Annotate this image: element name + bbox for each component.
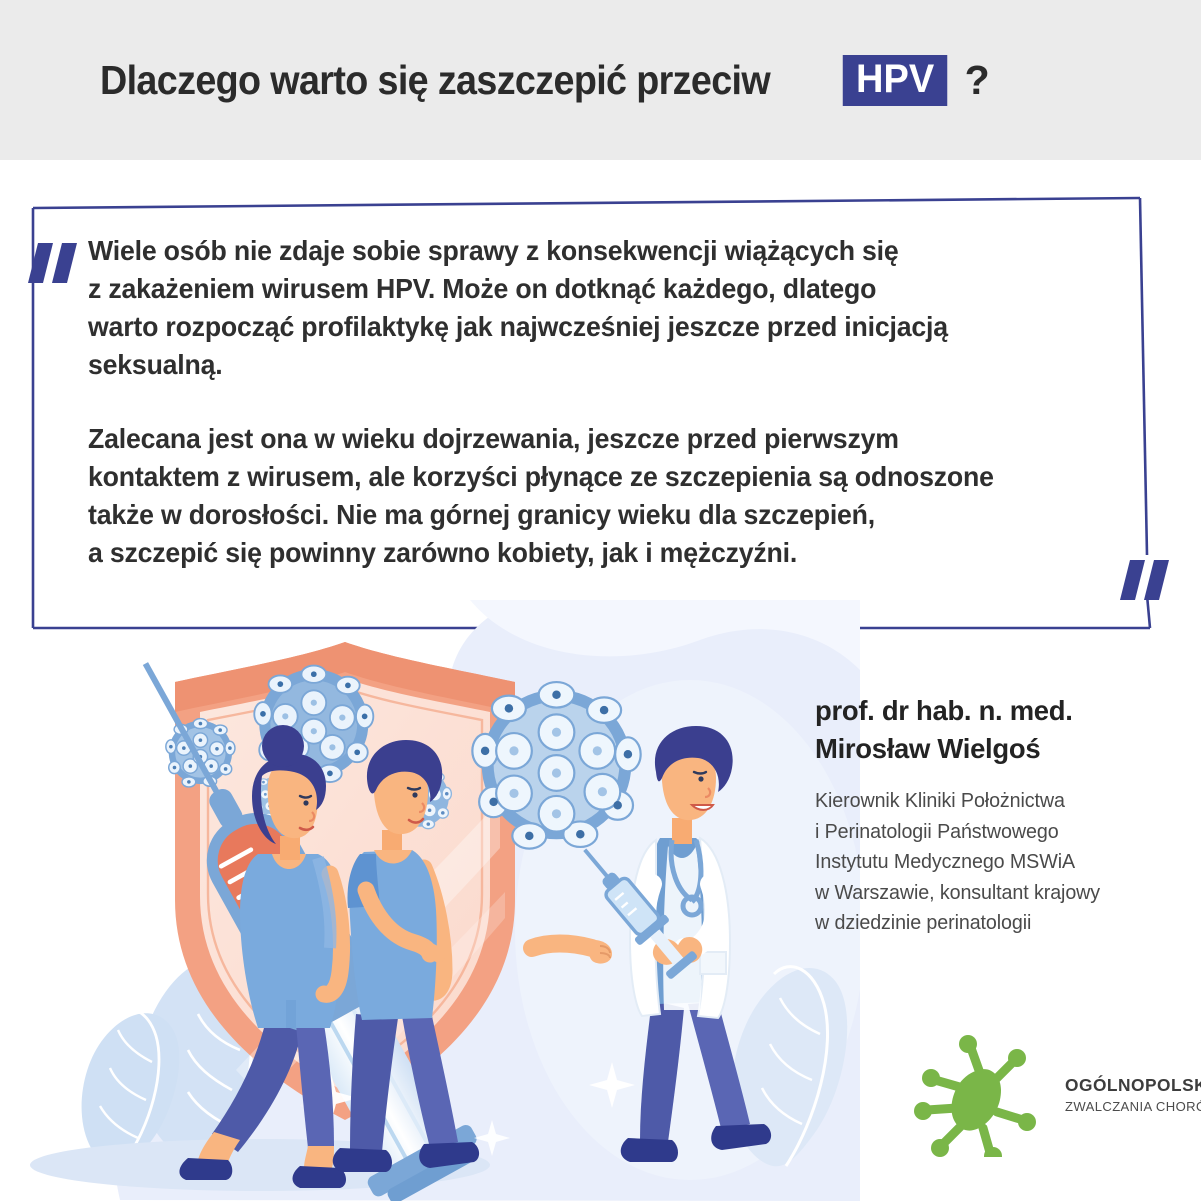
header-title-row: Dlaczego warto się zaszczepić przeciw HP… — [100, 0, 1141, 160]
quote-text-block: Wiele osób nie zdaje sobie sprawy z kons… — [88, 232, 1108, 572]
title-question-mark: ? — [965, 57, 990, 104]
infographic-root: Dlaczego warto się zaszczepić przeciw HP… — [0, 0, 1201, 1201]
quote-close-icon — [1125, 560, 1171, 600]
virus-mark-icon — [905, 1032, 1075, 1157]
illustration-svg — [0, 600, 860, 1201]
quote-paragraph-1: Wiele osób nie zdaje sobie sprawy z kons… — [88, 232, 1077, 384]
illustration — [0, 600, 860, 1201]
quote-paragraph-2: Zalecana jest ona w wieku dojrzewania, j… — [88, 420, 1077, 572]
page-title: Dlaczego warto się zaszczepić przeciw — [100, 57, 770, 104]
header-bar: Dlaczego warto się zaszczepić przeciw HP… — [0, 0, 1201, 160]
logo-line-1: OGÓLNOPOLSKI PROGRAM — [1065, 1075, 1201, 1096]
expert-role: Kierownik Kliniki Położnictwa i Perinato… — [815, 786, 1161, 939]
logo-line-2: ZWALCZANIA CHORÓB INFEKCYJNYCH — [1065, 1099, 1201, 1114]
attribution-block: prof. dr hab. n. med. Mirosław Wielgoś K… — [815, 692, 1175, 939]
program-logo: OGÓLNOPOLSKI PROGRAM ZWALCZANIA CHORÓB I… — [905, 1032, 1175, 1157]
hpv-badge: HPV — [843, 55, 948, 106]
quote-open-icon — [33, 243, 79, 283]
logo-text-block: OGÓLNOPOLSKI PROGRAM ZWALCZANIA CHORÓB I… — [1065, 1075, 1201, 1114]
expert-name: prof. dr hab. n. med. Mirosław Wielgoś — [815, 692, 1168, 768]
